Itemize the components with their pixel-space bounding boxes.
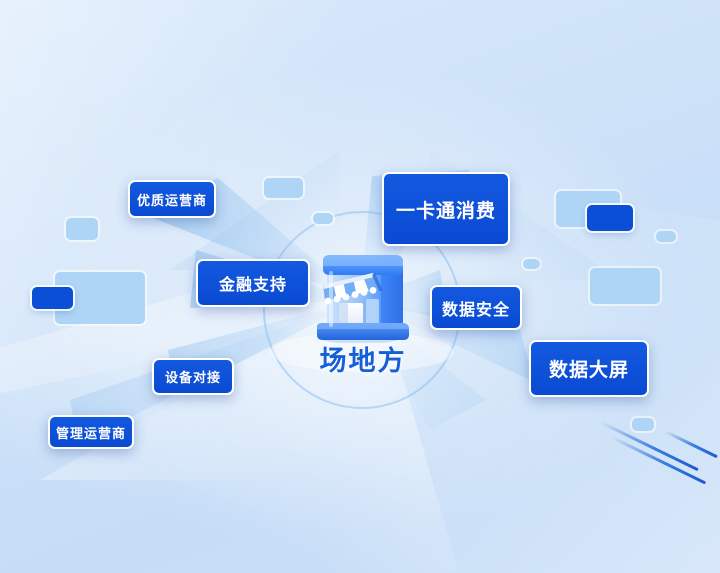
- center-title: 场地方: [283, 339, 443, 378]
- deco-rect-4: [264, 178, 303, 198]
- chip-financial-support[interactable]: 金融支持: [196, 259, 310, 307]
- chip-quality-operator[interactable]: 优质运营商: [128, 180, 216, 218]
- chip-device-docking-label: 设备对接: [165, 367, 221, 386]
- background-facet-lower-left: [40, 330, 300, 480]
- deco-rect-12: [632, 418, 654, 431]
- speedline-3: [664, 430, 717, 458]
- infographic-canvas: 场地方 优质运营商金融支持一卡通消费数据安全数据大屏设备对接管理运营商: [0, 0, 720, 573]
- deco-rect-5: [313, 213, 333, 224]
- deco-rect-1: [66, 218, 98, 240]
- deco-rect-10: [590, 268, 660, 304]
- chip-data-dashboard[interactable]: 数据大屏: [529, 340, 649, 397]
- chip-management-operator-label: 管理运营商: [56, 423, 126, 442]
- shop-storefront-icon: [303, 243, 417, 343]
- deco-rect-7: [587, 205, 633, 231]
- deco-rect-9: [523, 259, 540, 269]
- chip-quality-operator-label: 优质运营商: [137, 190, 207, 209]
- chip-financial-support-label: 金融支持: [219, 271, 287, 295]
- chip-data-security[interactable]: 数据安全: [430, 285, 522, 330]
- deco-rect-8: [656, 231, 676, 242]
- chip-card-consumption-label: 一卡通消费: [396, 196, 496, 223]
- chip-data-security-label: 数据安全: [442, 296, 510, 320]
- center-node: 场地方: [303, 243, 423, 378]
- chip-management-operator[interactable]: 管理运营商: [48, 415, 134, 449]
- chip-device-docking[interactable]: 设备对接: [152, 358, 234, 395]
- chip-data-dashboard-label: 数据大屏: [549, 355, 629, 382]
- chip-card-consumption[interactable]: 一卡通消费: [382, 172, 510, 246]
- deco-rect-3: [32, 287, 73, 309]
